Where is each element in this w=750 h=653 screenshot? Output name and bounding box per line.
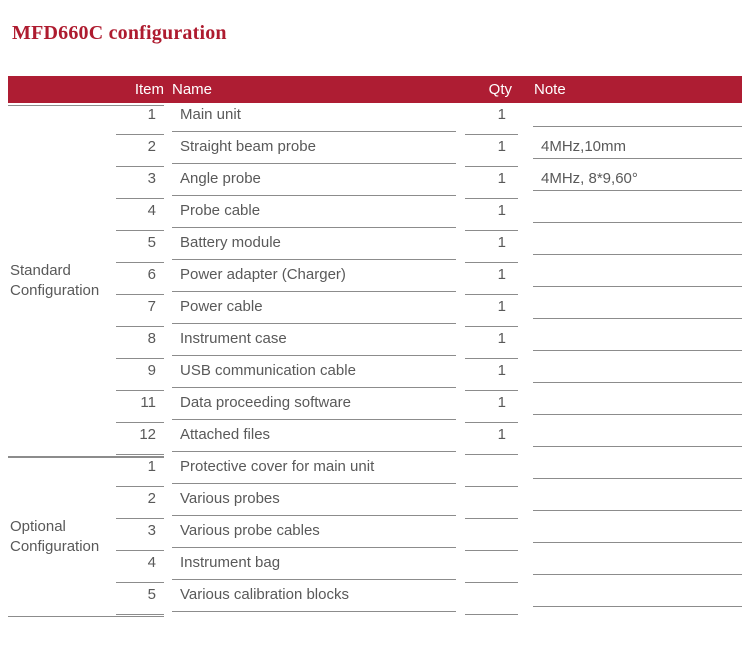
cell-item: 7 xyxy=(116,297,164,327)
column-header-item: Item xyxy=(116,80,164,99)
cell-qty: 1 xyxy=(465,297,518,327)
cell-qty: 1 xyxy=(465,201,518,231)
cell-qty: 1 xyxy=(465,329,518,359)
cell-item: 9 xyxy=(116,361,164,391)
cell-item: 3 xyxy=(116,169,164,199)
cell-note xyxy=(533,257,742,287)
cell-name: Probe cable xyxy=(172,198,456,228)
cell-qty xyxy=(465,489,518,519)
table-row: 5Various calibration blocks xyxy=(8,583,742,615)
cell-qty: 1 xyxy=(465,137,518,167)
cell-note: 4MHz, 8*9,60° xyxy=(533,161,742,191)
cell-qty xyxy=(465,521,518,551)
cell-name: USB communication cable xyxy=(172,358,456,388)
cell-note xyxy=(533,545,742,575)
cell-qty: 1 xyxy=(465,105,518,135)
cell-name: Various calibration blocks xyxy=(172,582,456,612)
cell-note xyxy=(533,353,742,383)
cell-name: Instrument case xyxy=(172,326,456,356)
cell-qty: 1 xyxy=(465,265,518,295)
cell-name: Main unit xyxy=(172,102,456,132)
cell-name: Attached files xyxy=(172,422,456,452)
cell-qty: 1 xyxy=(465,361,518,391)
cell-name: Angle probe xyxy=(172,166,456,196)
cell-name: Power adapter (Charger) xyxy=(172,262,456,292)
cell-item: 11 xyxy=(116,393,164,423)
cell-name: Power cable xyxy=(172,294,456,324)
cell-item: 1 xyxy=(116,105,164,135)
cell-name: Battery module xyxy=(172,230,456,260)
cell-name: Data proceeding software xyxy=(172,390,456,420)
cell-qty: 1 xyxy=(465,169,518,199)
cell-item: 2 xyxy=(116,489,164,519)
cell-item: 5 xyxy=(116,233,164,263)
cell-item: 3 xyxy=(116,521,164,551)
cell-note xyxy=(533,97,742,127)
cell-note xyxy=(533,481,742,511)
cell-item: 6 xyxy=(116,265,164,295)
cell-note: 4MHz,10mm xyxy=(533,129,742,159)
cell-note xyxy=(533,193,742,223)
cell-name: Various probe cables xyxy=(172,518,456,548)
cell-item: 5 xyxy=(116,585,164,615)
table-body: StandardConfiguration1Main unit12Straigh… xyxy=(8,103,742,627)
cell-name: Various probes xyxy=(172,486,456,516)
column-header-qty: Qty xyxy=(464,80,512,99)
page-title: MFD660C configuration xyxy=(12,22,227,45)
cell-note xyxy=(533,417,742,447)
cell-item: 4 xyxy=(116,553,164,583)
cell-qty xyxy=(465,585,518,615)
cell-name: Straight beam probe xyxy=(172,134,456,164)
cell-name: Instrument bag xyxy=(172,550,456,580)
cell-item: 4 xyxy=(116,201,164,231)
cell-qty xyxy=(465,457,518,487)
cell-qty xyxy=(465,553,518,583)
column-header-name: Name xyxy=(172,80,212,99)
cell-note xyxy=(533,513,742,543)
cell-name: Protective cover for main unit xyxy=(172,454,456,484)
configuration-table: Item Name Qty Note StandardConfiguration… xyxy=(8,76,742,627)
cell-item: 8 xyxy=(116,329,164,359)
cell-note xyxy=(533,321,742,351)
cell-item: 12 xyxy=(116,425,164,455)
cell-qty: 1 xyxy=(465,425,518,455)
cell-qty: 1 xyxy=(465,233,518,263)
cell-note xyxy=(533,449,742,479)
cell-qty: 1 xyxy=(465,393,518,423)
cell-note xyxy=(533,385,742,415)
cell-item: 1 xyxy=(116,457,164,487)
cell-item: 2 xyxy=(116,137,164,167)
cell-note xyxy=(533,577,742,607)
cell-note xyxy=(533,289,742,319)
cell-note xyxy=(533,225,742,255)
